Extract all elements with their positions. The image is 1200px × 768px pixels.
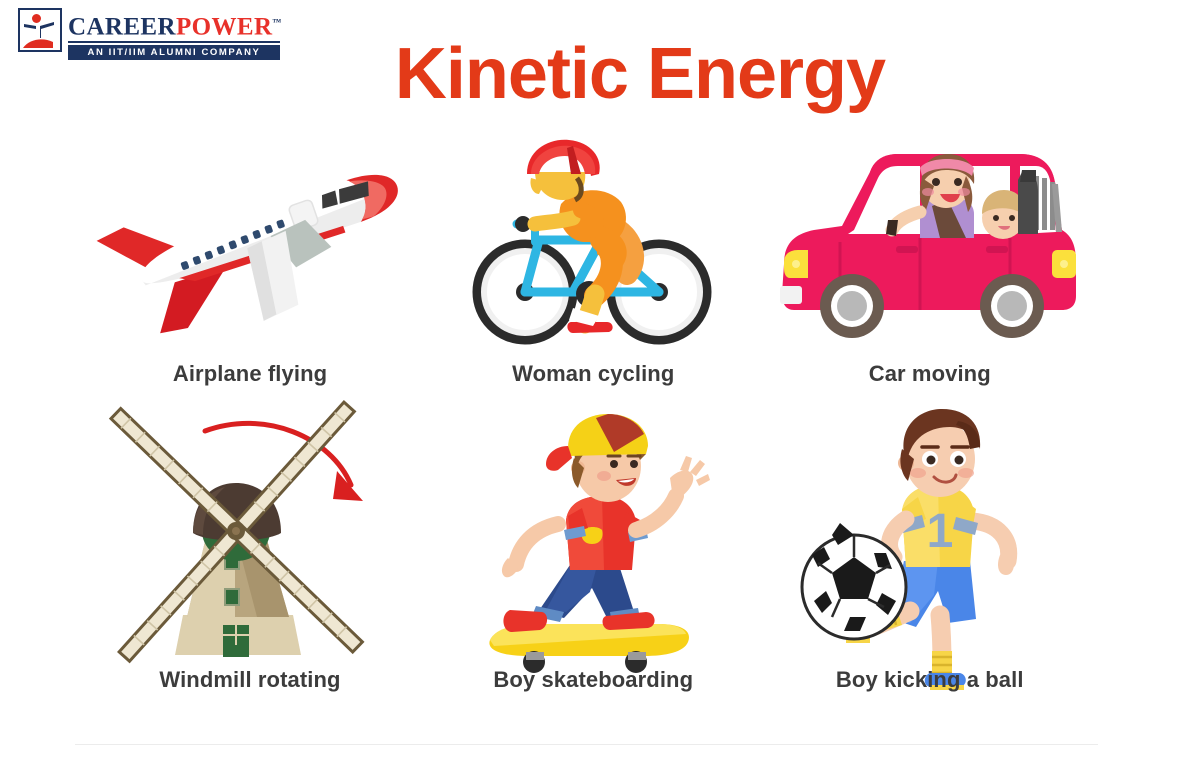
airplane-icon xyxy=(75,131,425,351)
caption-woman-cycling: Woman cycling xyxy=(512,361,674,387)
caption-boy-skateboarding: Boy skateboarding xyxy=(493,667,693,693)
caption-car-moving: Car moving xyxy=(869,361,991,387)
skateboarder-illustration xyxy=(425,431,762,663)
windmill-icon xyxy=(105,407,395,687)
soccer-boy-illustration: 1 xyxy=(762,431,1099,663)
skateboarder-icon xyxy=(458,412,728,682)
windmill-illustration xyxy=(75,431,425,663)
cyclist-icon xyxy=(473,130,713,352)
soccer-boy-icon: 1 xyxy=(800,405,1060,690)
caption-boy-kicking-ball: Boy kicking a ball xyxy=(836,667,1024,693)
trademark-symbol: ™ xyxy=(272,17,281,27)
car-icon xyxy=(770,134,1090,349)
cyclist-illustration xyxy=(425,125,762,357)
examples-grid: Airplane flying xyxy=(75,125,1098,737)
example-windmill-rotating: Windmill rotating xyxy=(75,431,425,737)
example-boy-skateboarding: Boy skateboarding xyxy=(425,431,762,737)
caption-airplane-flying: Airplane flying xyxy=(173,361,327,387)
caption-windmill-rotating: Windmill rotating xyxy=(159,667,340,693)
car-illustration xyxy=(762,125,1099,357)
example-boy-kicking-ball: 1 xyxy=(762,431,1099,737)
examples-panel: Airplane flying xyxy=(75,125,1098,745)
airplane-illustration xyxy=(75,125,425,357)
page-title: Kinetic Energy xyxy=(0,34,1200,114)
example-car-moving: Car moving xyxy=(762,125,1099,431)
example-airplane-flying: Airplane flying xyxy=(75,125,425,431)
example-woman-cycling: Woman cycling xyxy=(425,125,762,431)
jersey-number: 1 xyxy=(926,505,953,558)
